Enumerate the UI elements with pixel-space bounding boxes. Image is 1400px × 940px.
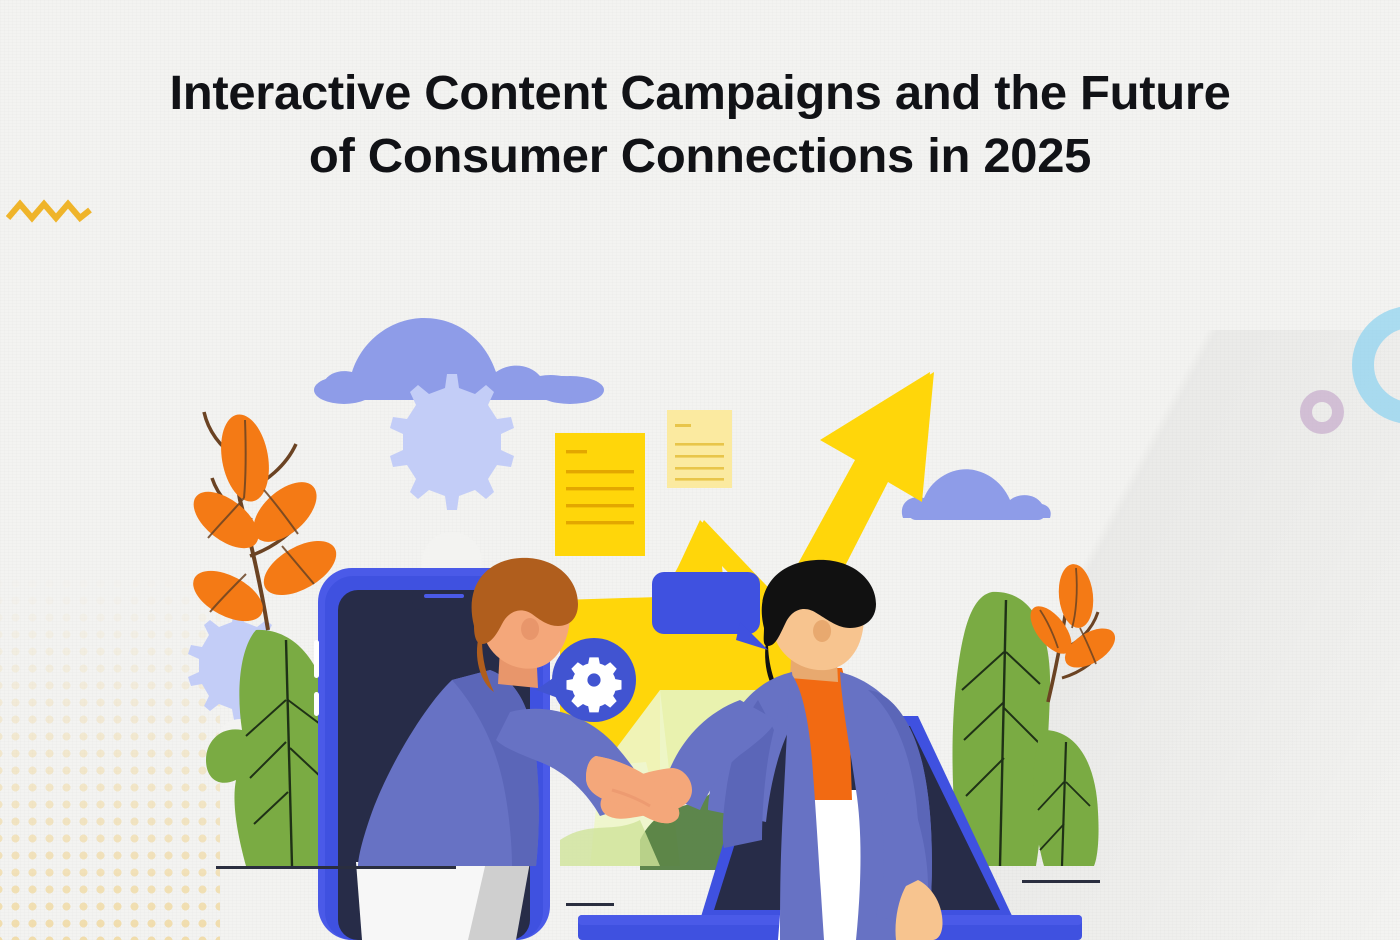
ground-line-middle: [566, 903, 614, 906]
hero-illustration-canvas: Interactive Content Campaigns and the Fu…: [0, 0, 1400, 940]
document-card-primary: [555, 433, 645, 556]
ground-line-left: [216, 866, 456, 869]
gear-decor-large: [390, 374, 514, 592]
ground-line-right: [1022, 880, 1100, 883]
plant-right: [953, 562, 1122, 866]
illustration-svg: [0, 0, 1400, 940]
document-card-secondary: [667, 410, 732, 488]
